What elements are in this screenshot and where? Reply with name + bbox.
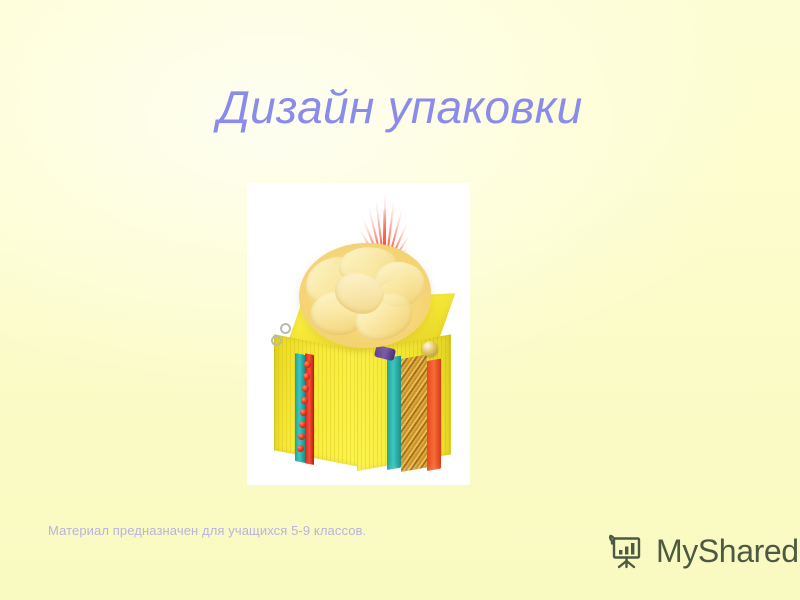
gift-box-photo <box>247 183 470 485</box>
gift-box-left-face <box>274 334 360 467</box>
ribbon-gold-cord <box>401 354 427 472</box>
presentation-slide: Дизайн упаковки <box>0 0 800 600</box>
silver-ring-upper <box>280 323 291 334</box>
bead <box>302 385 309 392</box>
bead <box>298 433 305 440</box>
presentation-chart-icon <box>606 530 648 572</box>
bead <box>299 421 306 428</box>
slide-subtitle: Материал предназначен для учащихся 5-9 к… <box>48 523 366 538</box>
page-title: Дизайн упаковки <box>0 84 800 130</box>
bead <box>300 409 307 416</box>
myshared-brand-label: MyShared <box>656 535 799 567</box>
ribbon-red-left <box>305 353 314 465</box>
ribbon-orange-right <box>427 359 441 471</box>
fabric-flower <box>299 243 431 348</box>
bead <box>301 397 308 404</box>
myshared-watermark: MyShared <box>606 530 799 572</box>
bead <box>304 361 311 368</box>
bead <box>303 373 310 380</box>
gold-pearl <box>422 341 438 357</box>
photo-stage <box>247 183 470 485</box>
bead <box>297 445 304 452</box>
ribbon-teal-right <box>387 356 401 470</box>
silver-ring-lower <box>271 335 282 346</box>
